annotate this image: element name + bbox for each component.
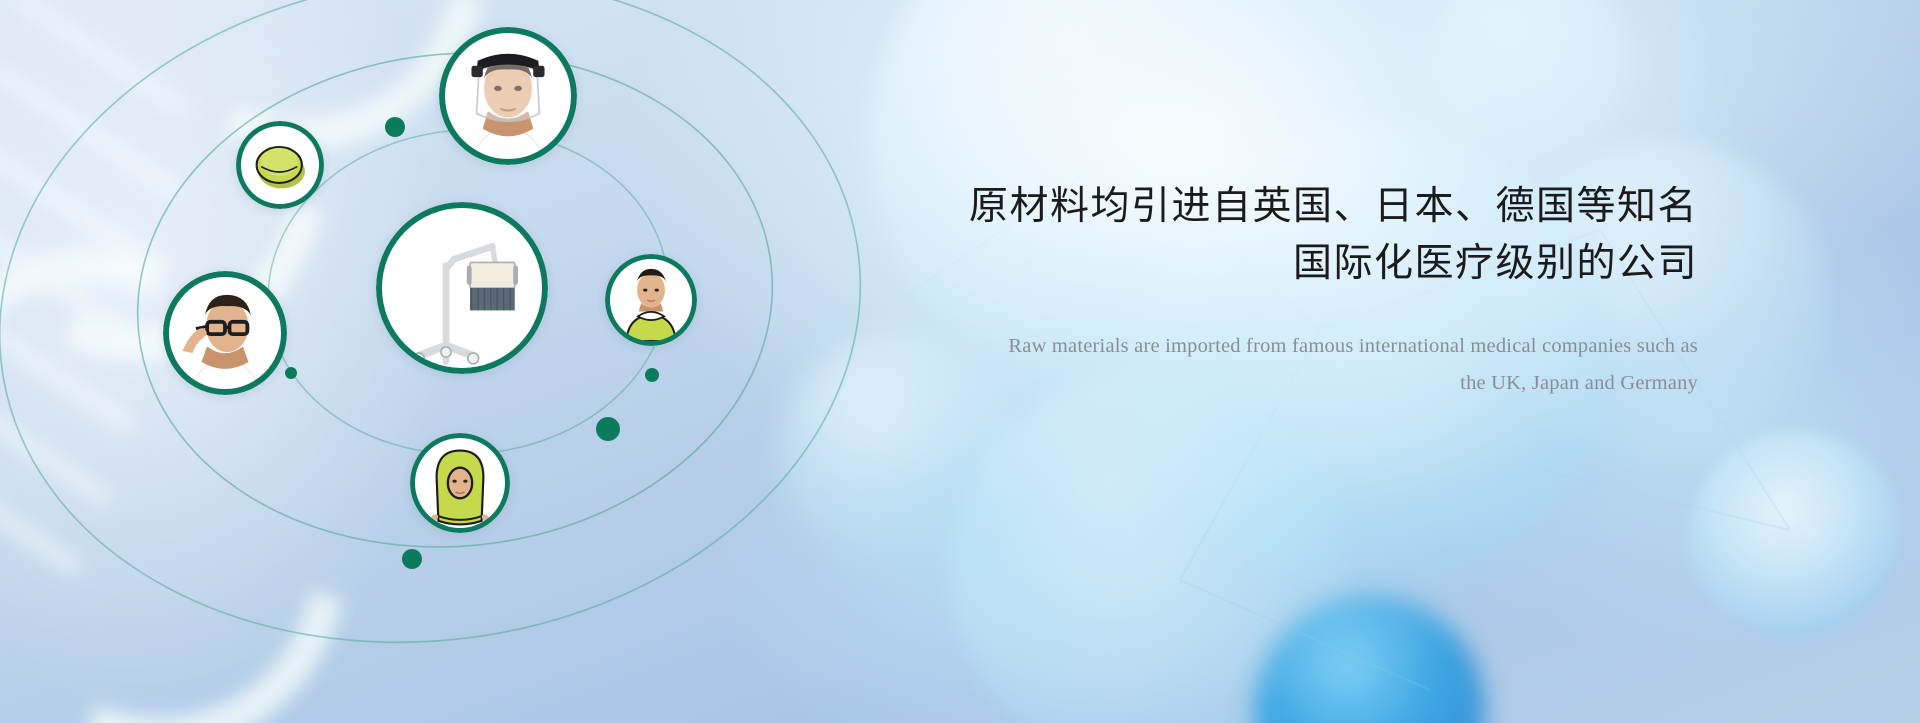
mobile-xray-shield-ring — [376, 202, 548, 374]
face-shield-portrait[interactable] — [439, 27, 577, 165]
thyroid-collar-portrait-ring — [605, 254, 697, 346]
lead-cap-product-ring — [236, 121, 324, 209]
banner-text-block: 原材料均引进自英国、日本、德国等知名 国际化医疗级别的公司 Raw materi… — [938, 178, 1698, 402]
thyroid-collar-portrait[interactable] — [605, 254, 697, 346]
leaded-glasses-portrait[interactable] — [163, 271, 287, 395]
lead-hood-portrait[interactable] — [410, 433, 510, 533]
lead-cap-product[interactable] — [236, 121, 324, 209]
headline-line-1: 原材料均引进自英国、日本、德国等知名 — [938, 178, 1698, 235]
accent-dot-right — [596, 417, 620, 441]
accent-dot-mid — [645, 368, 659, 382]
headline-line-2: 国际化医疗级别的公司 — [938, 235, 1698, 292]
subtitle-line-2: the UK, Japan and Germany — [938, 365, 1698, 402]
lead-hood-portrait-ring — [410, 433, 510, 533]
subtitle-line-1: Raw materials are imported from famous i… — [938, 328, 1698, 365]
face-shield-portrait-ring — [439, 27, 577, 165]
hero-banner: 原材料均引进自英国、日本、德国等知名 国际化医疗级别的公司 Raw materi… — [0, 0, 1920, 723]
mobile-xray-shield[interactable] — [376, 202, 548, 374]
accent-dot-lower — [402, 549, 422, 569]
accent-dot-upper — [385, 117, 405, 137]
accent-dot-left — [285, 367, 297, 379]
leaded-glasses-portrait-ring — [163, 271, 287, 395]
